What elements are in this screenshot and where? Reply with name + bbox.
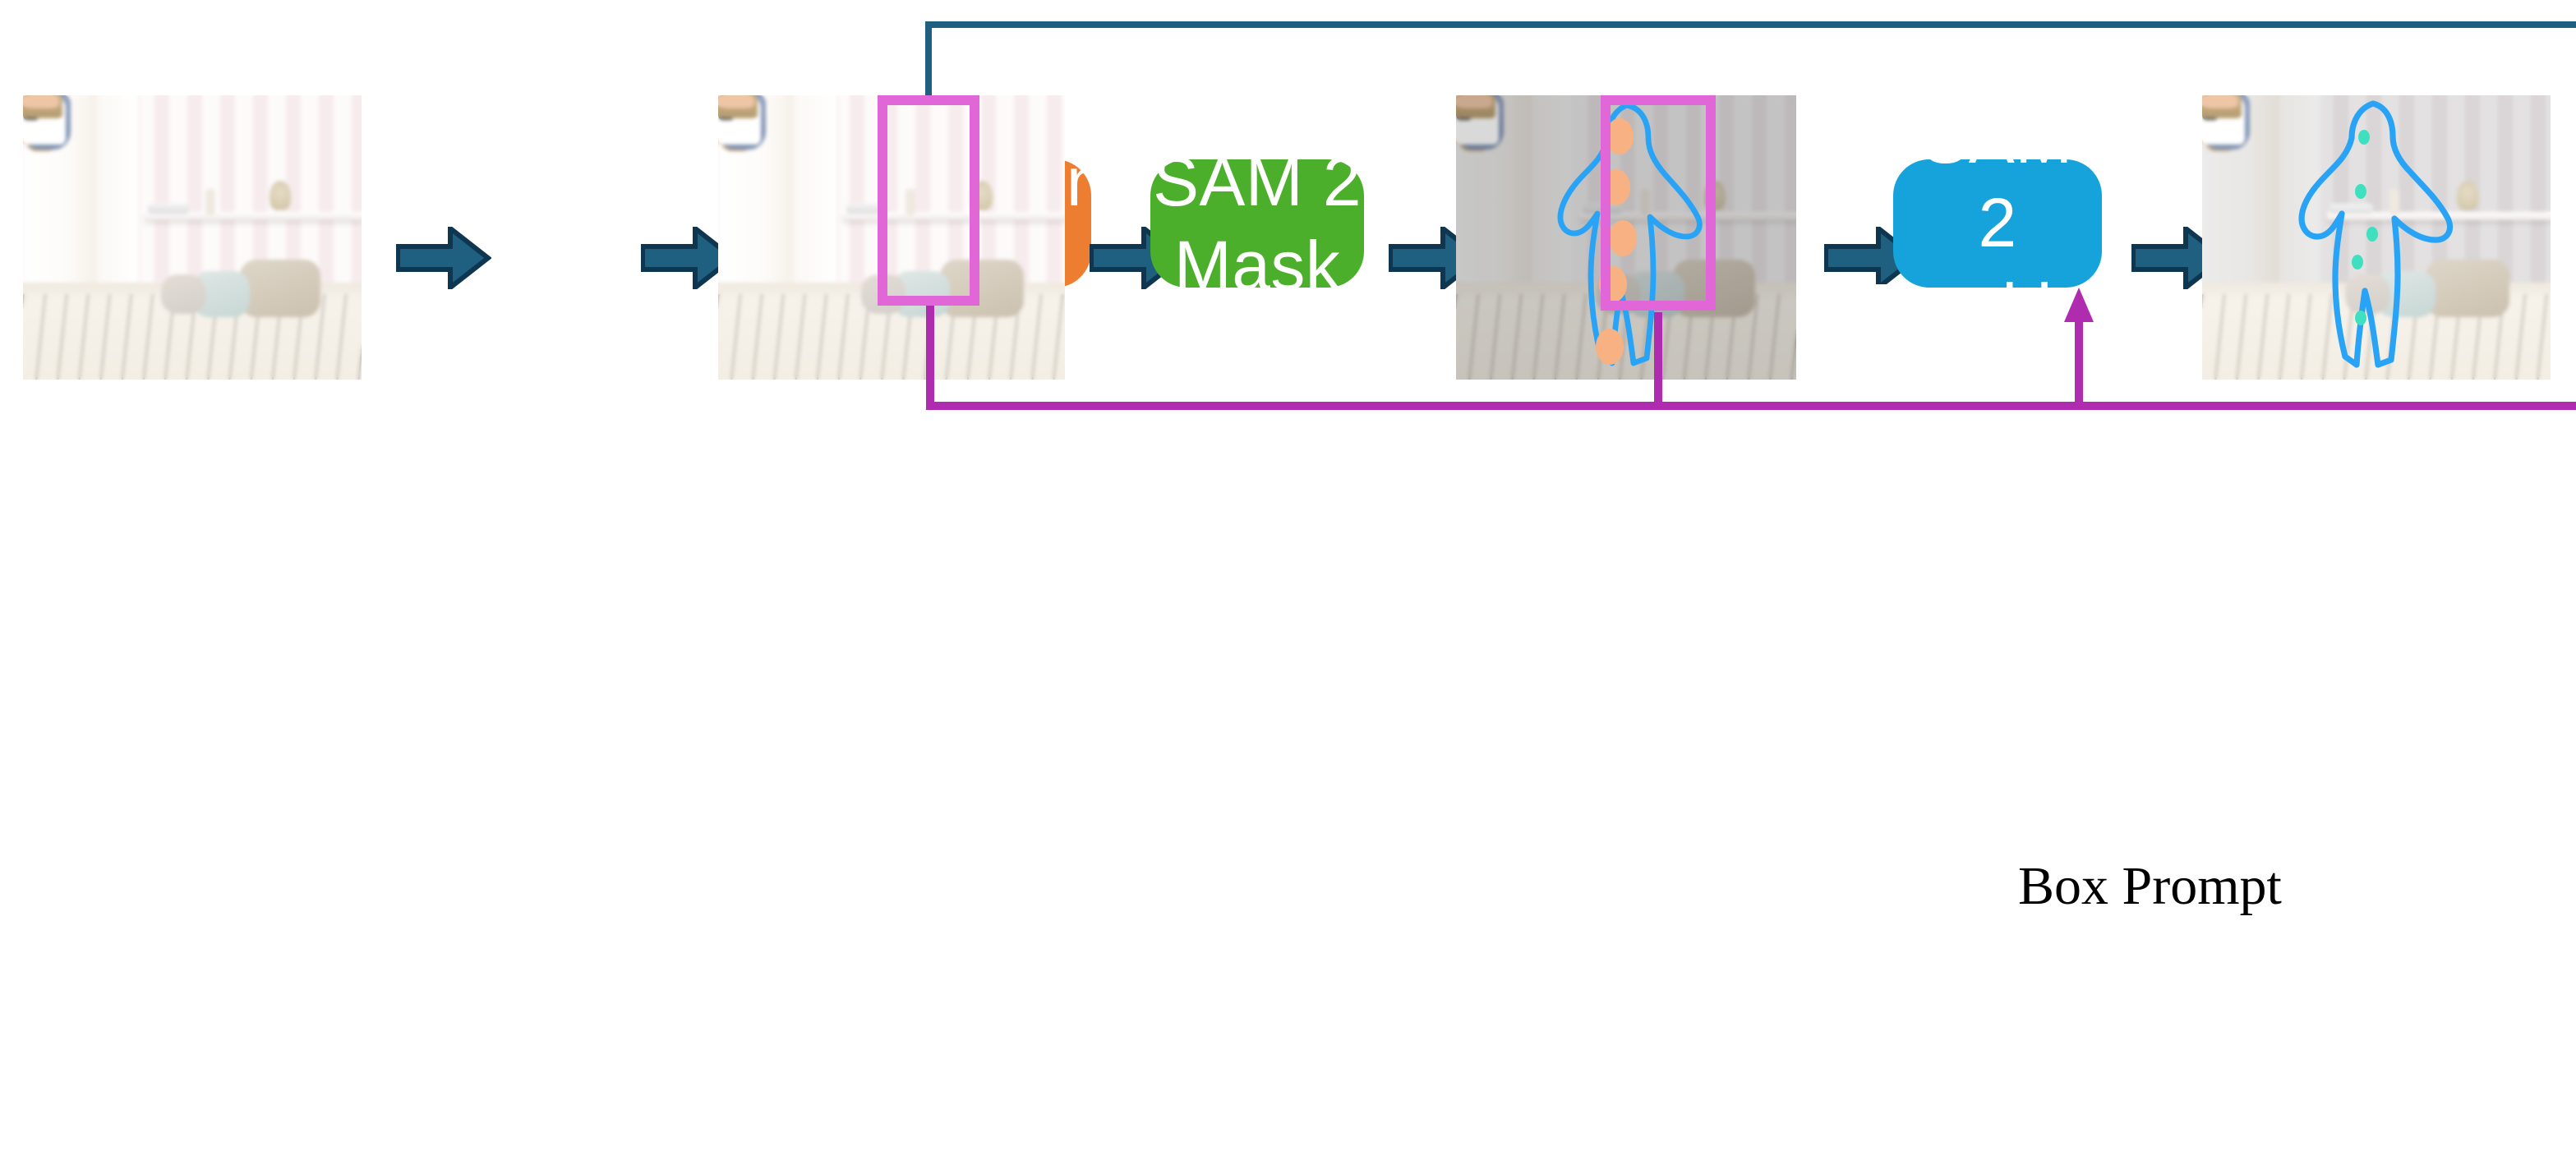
pipeline-diagram: Grounding DINO: [0, 0, 2576, 582]
box-prompt-label: Box Prompt: [2018, 858, 2282, 919]
connector-lines: [0, 0, 2576, 1165]
